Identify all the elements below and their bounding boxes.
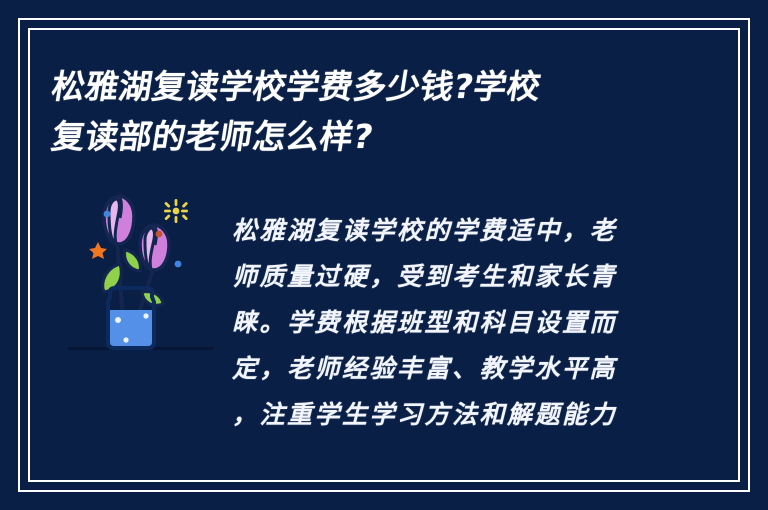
orange-dot-icon xyxy=(156,231,163,238)
blue-dot-icon xyxy=(104,211,111,218)
starburst-sparkle-icon xyxy=(164,199,188,223)
body-line-4: 定，老师经验丰富、教学水平高 xyxy=(232,346,652,392)
body-line-2: 师质量过硬，受到考生和家长青 xyxy=(232,254,652,300)
body-line-3: 睐。学费根据班型和科目设置而 xyxy=(232,300,652,346)
title-line-1: 松雅湖复读学校学费多少钱?学校 xyxy=(48,62,716,112)
body-line-5: ，注重学生学习方法和解题能力 xyxy=(232,392,652,438)
bubble-3-icon xyxy=(123,337,128,342)
page-title: 松雅湖复读学校学费多少钱?学校 复读部的老师怎么样? xyxy=(52,62,712,162)
tulip-flower-1-icon xyxy=(104,196,134,244)
blue-sparkle-icon xyxy=(175,261,182,268)
leaf-2-icon xyxy=(125,250,141,271)
banner-card: 松雅湖复读学校学费多少钱?学校 复读部的老师怎么样? xyxy=(0,0,768,510)
body-line-1: 松雅湖复读学校的学费适中，老 xyxy=(232,208,652,254)
ground-dash-icon xyxy=(195,347,213,350)
bubble-1-icon xyxy=(115,317,121,323)
tulips-in-jar-icon xyxy=(62,192,222,367)
bubble-2-icon xyxy=(143,313,148,318)
orange-star-icon xyxy=(89,242,107,259)
body-paragraph: 松雅湖复读学校的学费适中，老 师质量过硬，受到考生和家长青 睐。学费根据班型和科… xyxy=(232,208,652,438)
title-line-2: 复读部的老师怎么样? xyxy=(48,112,716,162)
tulip-flower-2-icon xyxy=(140,225,169,270)
